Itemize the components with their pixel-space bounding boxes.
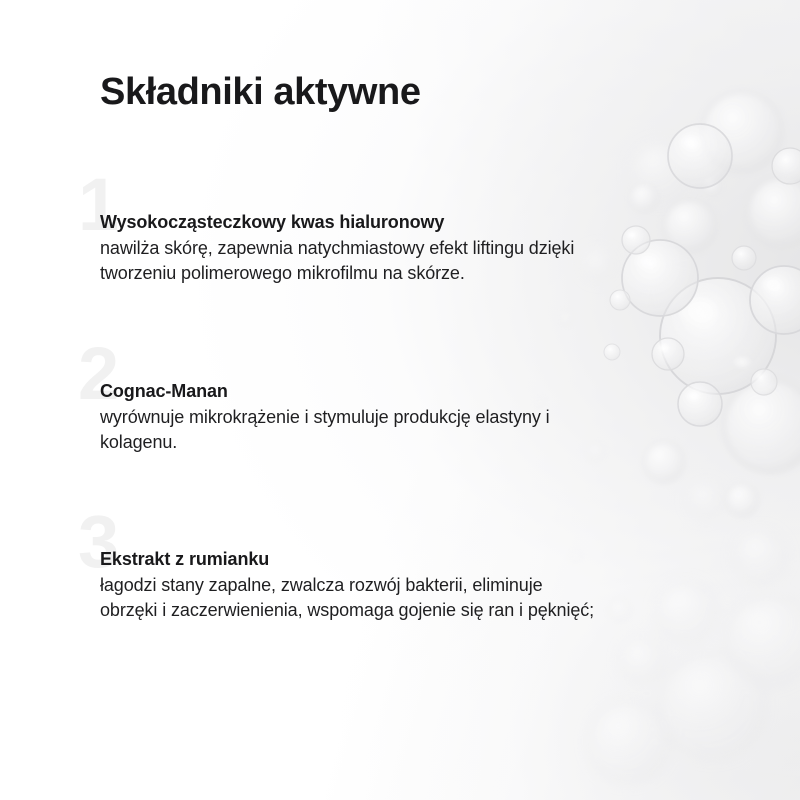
list-item: 1 Wysokocząsteczkowy kwas hialuronowy na…: [78, 168, 600, 286]
ingredient-description: nawilża skórę, zapewnia natychmiastowy e…: [100, 236, 600, 286]
ingredient-description: wyrównuje mikrokrążenie i stymuluje prod…: [100, 405, 600, 455]
ingredient-name: Cognac-Manan: [100, 379, 600, 404]
list-item: 2 Cognac-Manan wyrównuje mikrokrążenie i…: [78, 337, 600, 455]
ingredient-name: Wysokocząsteczkowy kwas hialuronowy: [100, 210, 600, 235]
list-item: 3 Ekstrakt z rumianku łagodzi stany zapa…: [78, 505, 600, 623]
product-ingredients-card: Składniki aktywne 1 Wysokocząsteczkowy k…: [0, 0, 800, 800]
ingredient-body: Cognac-Manan wyrównuje mikrokrążenie i s…: [100, 337, 600, 455]
ingredient-name: Ekstrakt z rumianku: [100, 547, 600, 572]
ingredient-description: łagodzi stany zapalne, zwalcza rozwój ba…: [100, 573, 600, 623]
ingredient-body: Wysokocząsteczkowy kwas hialuronowy nawi…: [100, 168, 600, 286]
ingredients-list: 1 Wysokocząsteczkowy kwas hialuronowy na…: [0, 0, 800, 800]
ingredient-body: Ekstrakt z rumianku łagodzi stany zapaln…: [100, 505, 600, 623]
